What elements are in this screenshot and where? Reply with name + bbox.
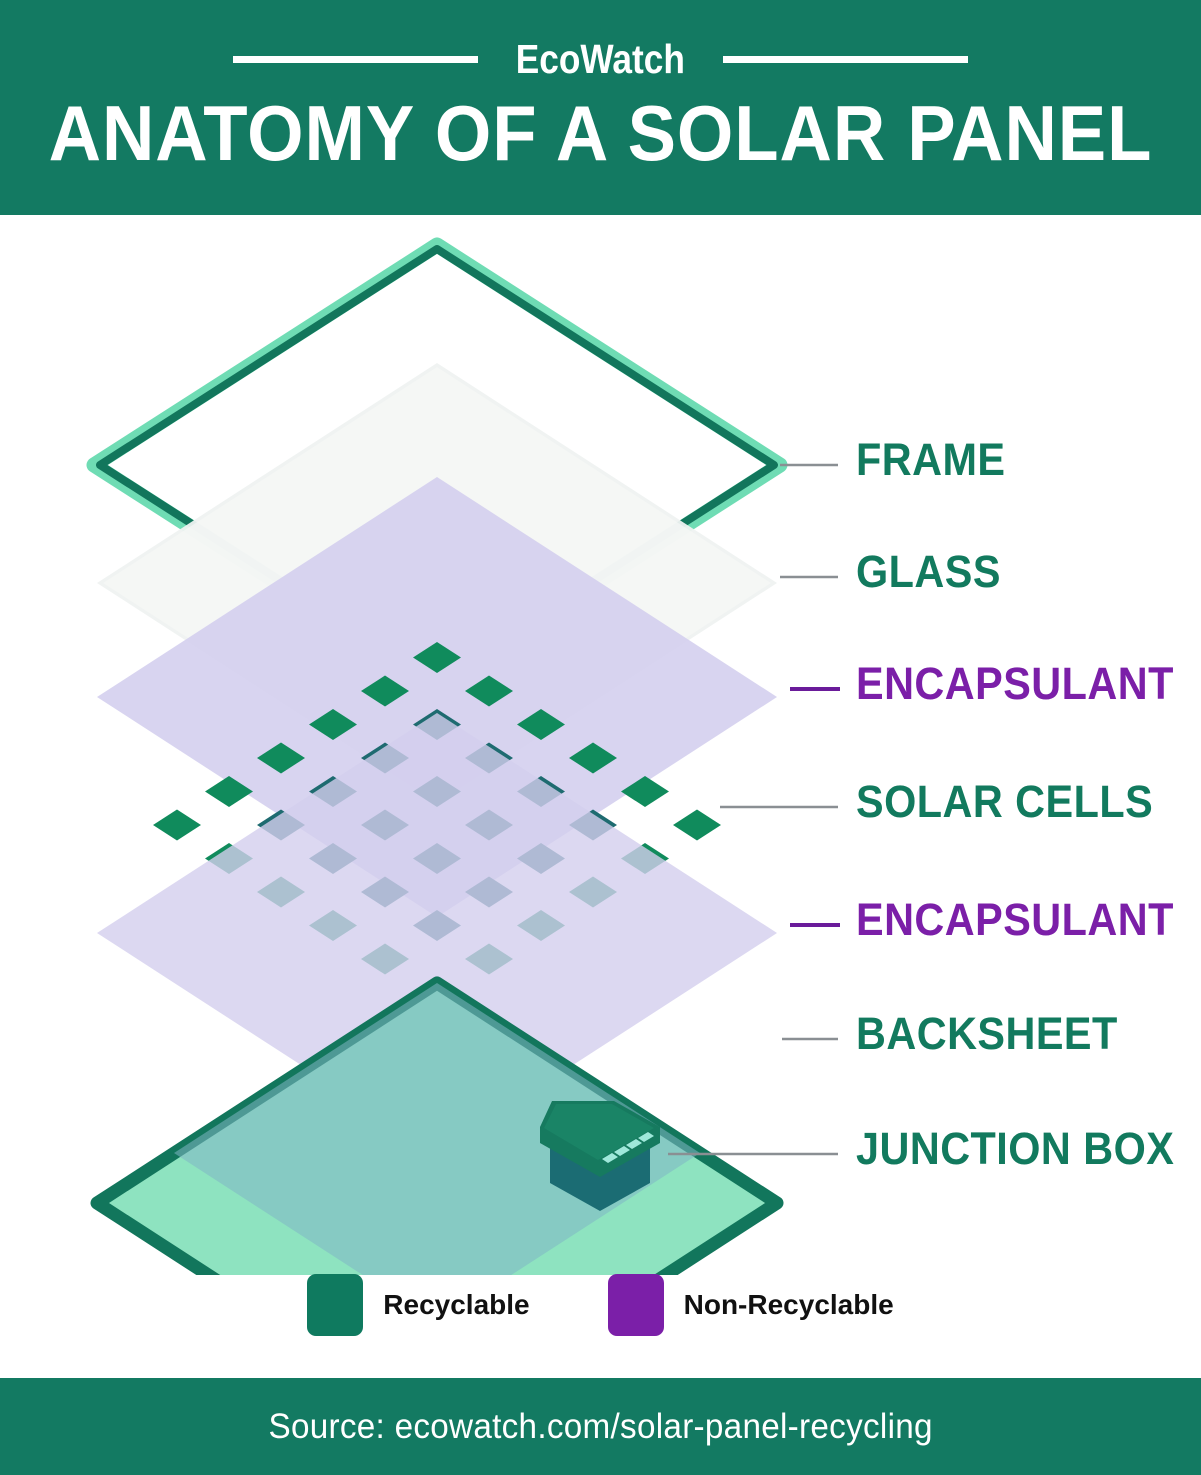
brand-row: EcoWatch: [0, 30, 1201, 88]
label-encapsulant-top: ENCAPSULANT: [856, 661, 1174, 706]
label-frame: FRAME: [856, 437, 1005, 482]
legend-swatch-recyclable: [307, 1274, 363, 1336]
brand-rule-left: [233, 56, 478, 63]
footer-banner: Source: ecowatch.com/solar-panel-recycli…: [0, 1378, 1201, 1475]
infographic-page: EcoWatch ANATOMY OF A SOLAR PANEL: [0, 0, 1201, 1475]
legend-item-non-recyclable: Non-Recyclable: [608, 1274, 894, 1336]
header-banner: EcoWatch ANATOMY OF A SOLAR PANEL: [0, 0, 1201, 215]
solar-cell: [673, 810, 721, 841]
brand-rule-right: [723, 56, 968, 63]
label-solar-cells: SOLAR CELLS: [856, 779, 1153, 824]
layer-backsheet: [97, 983, 777, 1275]
label-backsheet: BACKSHEET: [856, 1011, 1118, 1056]
legend: Recyclable Non-Recyclable: [0, 1270, 1201, 1340]
brand-name: EcoWatch: [516, 39, 685, 80]
solar-cell: [153, 810, 201, 841]
label-glass: GLASS: [856, 549, 1001, 594]
page-title: ANATOMY OF A SOLAR PANEL: [42, 94, 1159, 172]
legend-item-recyclable: Recyclable: [307, 1274, 529, 1336]
exploded-panel-diagram: [0, 215, 1201, 1275]
label-junction-box: JUNCTION BOX: [856, 1126, 1174, 1171]
legend-label-non-recyclable: Non-Recyclable: [684, 1289, 894, 1321]
source-text: Source: ecowatch.com/solar-panel-recycli…: [268, 1407, 932, 1447]
label-encapsulant-bottom: ENCAPSULANT: [856, 897, 1174, 942]
legend-label-recyclable: Recyclable: [383, 1289, 529, 1321]
legend-swatch-non-recyclable: [608, 1274, 664, 1336]
